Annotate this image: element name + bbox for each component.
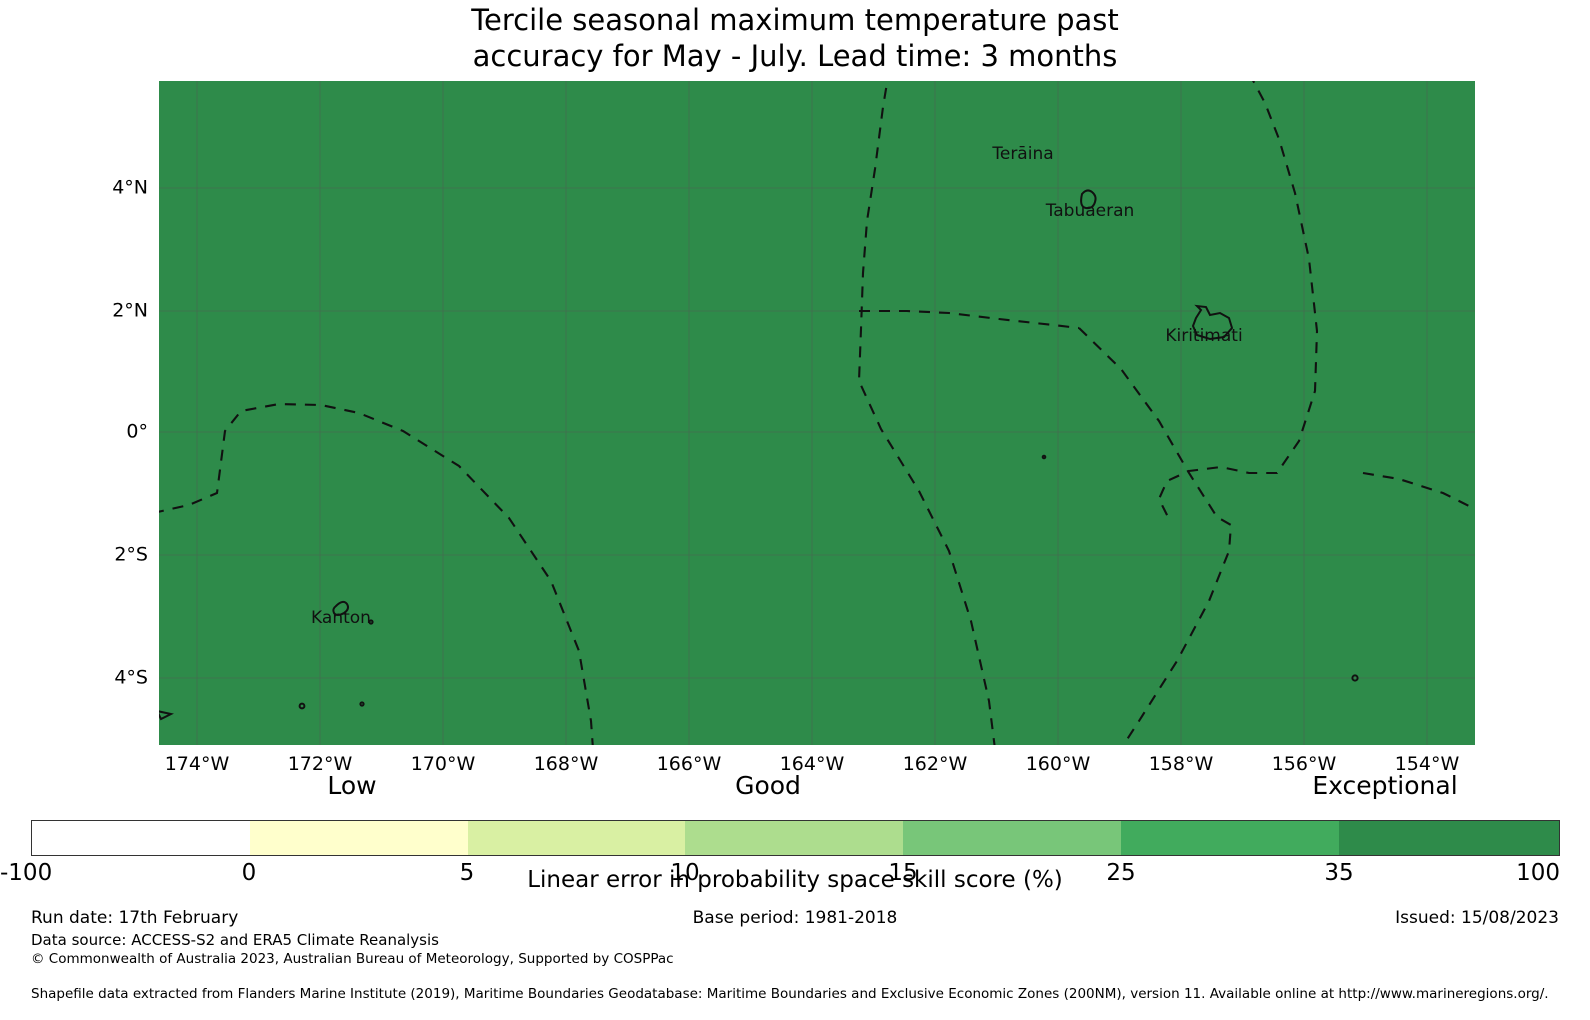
map-canvas: Terāina Tabuaeran Kiritimati Kanton (159, 81, 1475, 745)
eez-boundary-lines (159, 81, 1475, 745)
y-tick-4s: 4°S (28, 669, 148, 688)
y-tick-0: 0° (28, 423, 148, 442)
colorbar-quality-low: Low (192, 772, 512, 800)
colorbar-segment-6 (1339, 821, 1559, 855)
colorbar-axis-label: Linear error in probability space skill … (0, 866, 1590, 894)
page-title: Tercile seasonal maximum temperature pas… (0, 2, 1590, 74)
y-tick-2s: 2°S (28, 546, 148, 565)
shapefile-attribution-text: Shapefile data extracted from Flanders M… (31, 985, 1549, 1004)
map-gridlines (159, 81, 1475, 745)
colorbar-gradient (31, 820, 1560, 856)
colorbar-segment-5 (1121, 821, 1339, 855)
colorbar-quality-exceptional: Exceptional (1225, 772, 1545, 800)
colorbar-segment-0 (32, 821, 250, 855)
colorbar-segment-2 (468, 821, 686, 855)
base-period-text: Base period: 1981-2018 (0, 906, 1590, 930)
map-label-teraina: Terāina (991, 144, 1053, 164)
colorbar: -100 0 5 10 15 25 35 100 (31, 820, 1560, 856)
map-label-tabuaeran: Tabuaeran (1045, 201, 1135, 221)
y-tick-2n: 2°N (28, 302, 148, 321)
copyright-text: © Commonwealth of Australia 2023, Austra… (31, 950, 674, 969)
issued-date-text: Issued: 15/08/2023 (1395, 906, 1559, 930)
x-tick-160w: 160°W (988, 755, 1128, 774)
map-label-kanton: Kanton (311, 608, 371, 628)
map-label-kiritimati: Kiritimati (1165, 326, 1242, 346)
data-source-text: Data source: ACCESS-S2 and ERA5 Climate … (31, 930, 439, 951)
colorbar-segment-1 (250, 821, 468, 855)
colorbar-segment-3 (685, 821, 903, 855)
colorbar-quality-good: Good (608, 772, 928, 800)
colorbar-segment-4 (903, 821, 1121, 855)
map-plot-area: Terāina Tabuaeran Kiritimati Kanton (159, 81, 1475, 745)
y-tick-4n: 4°N (28, 179, 148, 198)
